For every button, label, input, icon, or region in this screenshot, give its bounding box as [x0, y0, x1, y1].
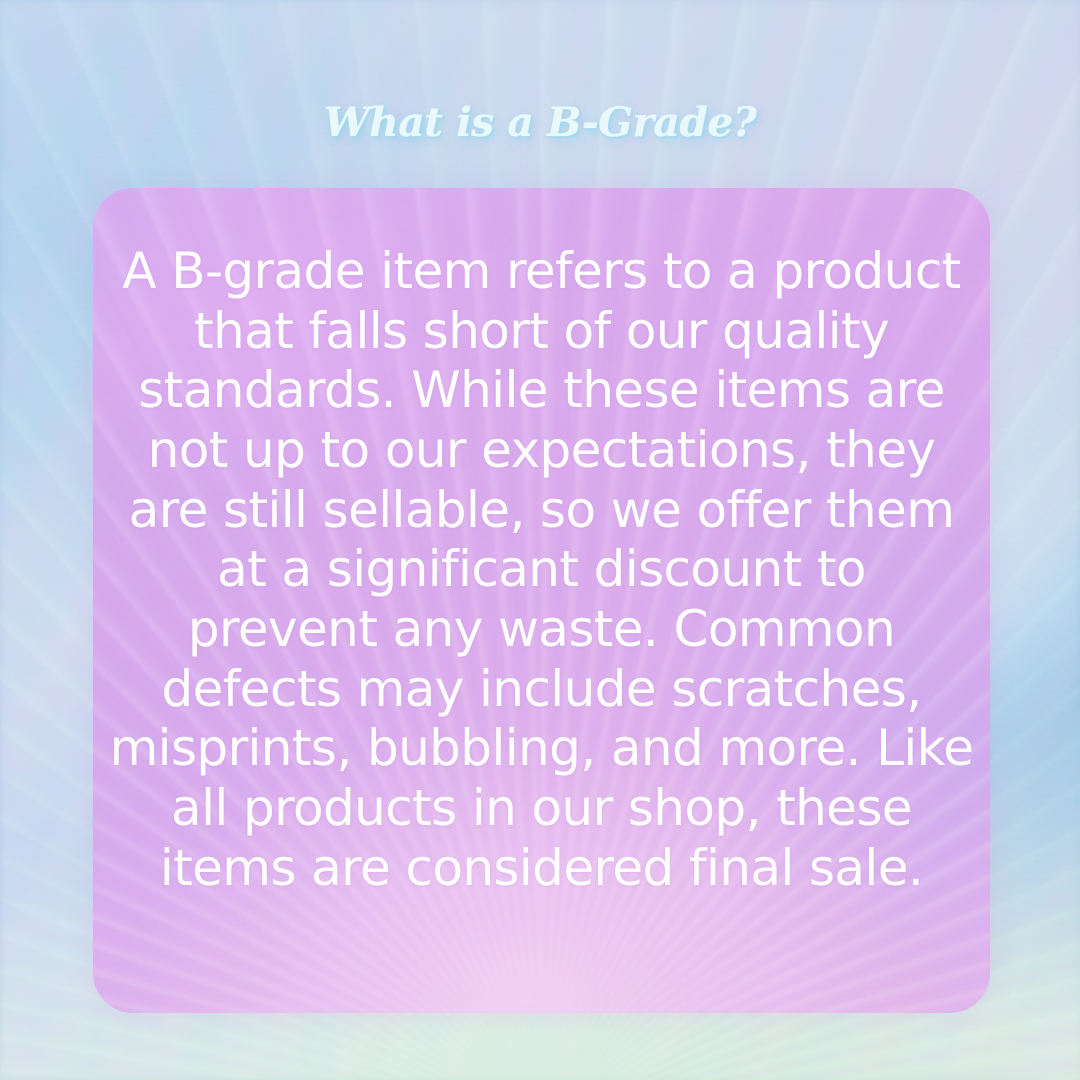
body-line: standards. While these items are	[107, 361, 976, 421]
body-line: that falls short of our quality	[107, 302, 976, 362]
body-line: all products in our shop, these	[107, 779, 976, 839]
body-line: defects may include scratches,	[107, 660, 976, 720]
body-line: items are considered final sale.	[107, 839, 976, 899]
body-line: A B-grade item refers to a product	[107, 242, 976, 302]
body-line: at a significant discount to	[107, 540, 976, 600]
poster-canvas: What is a B-Grade? A B-grade item refers…	[0, 0, 1080, 1080]
page-title: What is a B-Grade?	[0, 103, 1080, 143]
info-card: A B-grade item refers to a product that …	[93, 188, 990, 1013]
body-line: not up to our expectations, they	[107, 421, 976, 481]
card-body-text: A B-grade item refers to a product that …	[93, 242, 990, 898]
body-line: are still sellable, so we offer them	[107, 481, 976, 541]
body-line: misprints, bubbling, and more. Like	[107, 719, 976, 779]
body-line: prevent any waste. Common	[107, 600, 976, 660]
